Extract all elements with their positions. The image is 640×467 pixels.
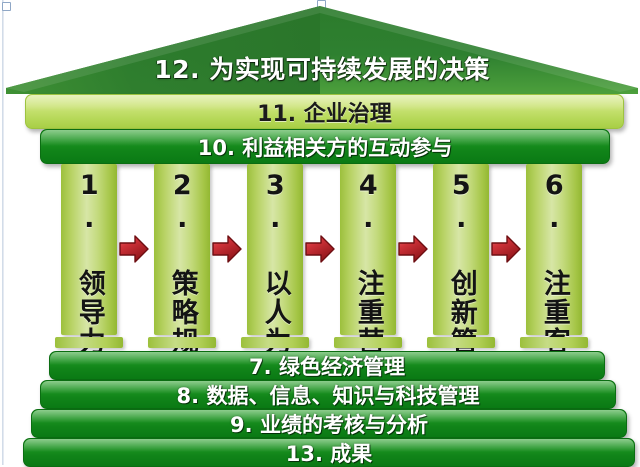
column-2-base — [148, 337, 216, 348]
right-arrow-icon — [118, 234, 150, 264]
bar-11-corporate-governance[interactable]: 11. 企业治理 — [25, 94, 624, 129]
slide-left-edge — [2, 0, 4, 465]
column-6-base — [520, 337, 588, 348]
roof-label: 12. 为实现可持续发展的决策 — [6, 50, 638, 86]
column-6-customer-focus[interactable]: 6. 注重客户 — [526, 164, 582, 335]
diagram-canvas: 12. 为实现可持续发展的决策 11. 企业治理 10. 利益相关方的互动参与 … — [0, 0, 640, 465]
bar-13-results[interactable]: 13. 成果 — [23, 438, 635, 467]
bar-11-label: 11. 企业治理 — [257, 96, 392, 128]
column-1-label: 1. 领导力 — [75, 170, 103, 356]
bar-13-label: 13. 成果 — [286, 438, 373, 467]
arrow-4-to-5-icon — [397, 234, 429, 264]
column-3-text: 3. 以人为本 — [247, 164, 303, 335]
right-arrow-icon — [397, 234, 429, 264]
bar-10-label: 10. 利益相关方的互动参与 — [198, 132, 453, 162]
column-4-text: 4. 注重营运 — [340, 164, 396, 335]
column-6-text: 6. 注重客户 — [526, 164, 582, 335]
roof-pediment[interactable]: 12. 为实现可持续发展的决策 — [6, 4, 638, 94]
right-arrow-icon — [211, 234, 243, 264]
column-4-base — [334, 337, 402, 348]
arrow-5-to-6-icon — [490, 234, 522, 264]
column-2-strategic-planning[interactable]: 2. 策略规划 — [154, 164, 210, 335]
bar-7-green-economy-management[interactable]: 7. 绿色经济管理 — [49, 351, 605, 380]
bar-9-performance-review-analysis[interactable]: 9. 业绩的考核与分析 — [31, 409, 627, 438]
column-5-text: 5. 创新管理 — [433, 164, 489, 335]
column-2-text: 2. 策略规划 — [154, 164, 210, 335]
column-1-base — [55, 337, 123, 348]
bar-10-stakeholder-engagement[interactable]: 10. 利益相关方的互动参与 — [40, 129, 610, 164]
column-3-base — [241, 337, 309, 348]
arrow-2-to-3-icon — [211, 234, 243, 264]
bar-8-label: 8. 数据、信息、知识与科技管理 — [177, 380, 480, 409]
right-arrow-icon — [490, 234, 522, 264]
column-4-operations-focus[interactable]: 4. 注重营运 — [340, 164, 396, 335]
arrow-3-to-4-icon — [304, 234, 336, 264]
column-5-base — [427, 337, 495, 348]
column-1-leadership[interactable]: 1. 领导力 — [61, 164, 117, 335]
arrow-1-to-2-icon — [118, 234, 150, 264]
right-arrow-icon — [304, 234, 336, 264]
column-5-innovation-management[interactable]: 5. 创新管理 — [433, 164, 489, 335]
column-1-text: 1. 领导力 — [61, 164, 117, 335]
bar-8-data-information-knowledge-technology-management[interactable]: 8. 数据、信息、知识与科技管理 — [40, 380, 616, 409]
column-3-people-oriented[interactable]: 3. 以人为本 — [247, 164, 303, 335]
bar-7-label: 7. 绿色经济管理 — [249, 351, 405, 380]
bar-9-label: 9. 业绩的考核与分析 — [230, 409, 428, 438]
